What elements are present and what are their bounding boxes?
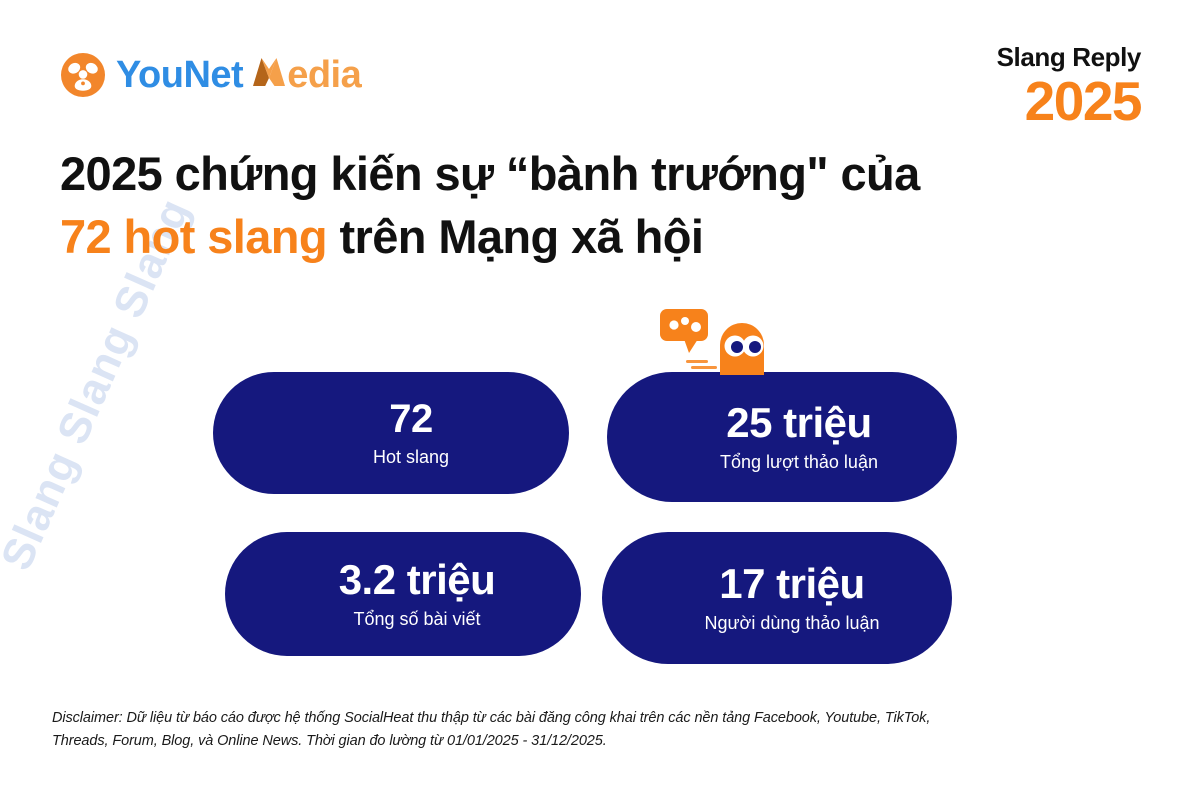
stat-value: 72: [389, 398, 433, 440]
stat-card-discussing-users: 17 triệu Người dùng thảo luận: [602, 532, 952, 664]
bubble-dot-3: [691, 322, 701, 332]
mascot-pupil-left: [731, 341, 743, 353]
page-title: 2025 chứng kiến sự “bành trướng" của 72 …: [60, 143, 1140, 269]
stat-card-total-discussions: 25 triệu Tổng lượt thảo luận: [607, 372, 957, 502]
headline-line-2: 72 hot slang trên Mạng xã hội: [60, 206, 1140, 269]
disclaimer-line-1: Disclaimer: Dữ liệu từ báo cáo được hệ t…: [52, 707, 1062, 730]
headline-accent-72-hot-slang: 72 hot slang: [60, 210, 327, 263]
stat-value: 17 triệu: [719, 562, 864, 606]
page-header: YouNet edia Slang Reply 2025: [0, 0, 1201, 140]
wordmark-edia: edia: [287, 56, 361, 94]
stat-card-hot-slang: 72 Hot slang: [213, 372, 569, 494]
stat-value: 3.2 triệu: [339, 558, 496, 602]
stats-grid: 72 Hot slang 25 triệu Tổng lượt thảo luậ…: [213, 372, 953, 657]
bubble-dot-2: [681, 317, 689, 325]
speech-bubble-icon: [660, 309, 708, 341]
younet-media-logo[interactable]: YouNet edia: [60, 52, 361, 98]
stat-label: Người dùng thảo luận: [705, 613, 880, 635]
headline-line-2-rest: trên Mạng xã hội: [327, 210, 703, 263]
younet-media-wordmark: YouNet edia: [116, 56, 361, 94]
stat-label: Hot slang: [373, 447, 449, 469]
chat-bubble-and-mascot-icon: [658, 305, 798, 375]
badge-label: Slang Reply: [997, 44, 1141, 70]
younet-molecule-icon: [60, 52, 106, 98]
disclaimer: Disclaimer: Dữ liệu từ báo cáo được hệ t…: [52, 707, 1062, 754]
slang-reply-badge: Slang Reply 2025: [997, 44, 1141, 129]
media-m-icon: [252, 57, 286, 87]
headline-line-1: 2025 chứng kiến sự “bành trướng" của: [60, 143, 1140, 206]
stat-value: 25 triệu: [726, 401, 871, 445]
badge-year: 2025: [997, 74, 1141, 129]
stat-card-total-posts: 3.2 triệu Tổng số bài viết: [225, 532, 581, 656]
disclaimer-line-2: Threads, Forum, Blog, và Online News. Th…: [52, 730, 1062, 753]
bubble-dot-1: [669, 320, 678, 329]
stat-label: Tổng số bài viết: [353, 609, 480, 631]
mascot-pupil-right: [749, 341, 761, 353]
stat-label: Tổng lượt thảo luận: [720, 452, 878, 474]
wordmark-younet: YouNet: [116, 56, 243, 94]
